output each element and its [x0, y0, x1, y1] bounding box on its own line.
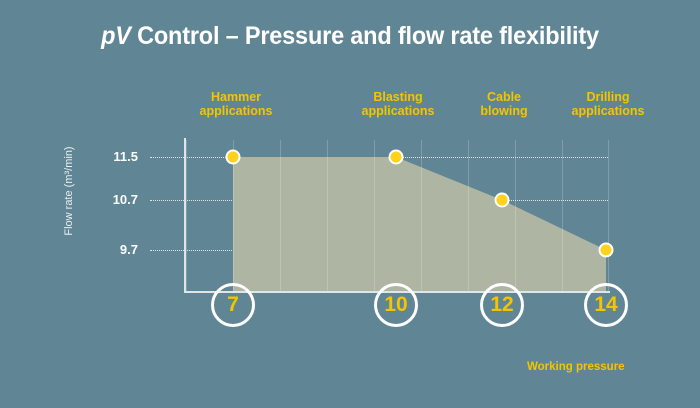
- x-axis-bubble-12[interactable]: 12: [480, 283, 524, 327]
- x-axis-bubble-10[interactable]: 10: [374, 283, 418, 327]
- page-title: pV Control – Pressure and flow rate flex…: [21, 22, 679, 51]
- category-label-drilling: Drilling applications: [538, 90, 678, 118]
- category-label-hammer-line2: applications: [166, 104, 306, 118]
- y-tick-label-11-5: 11.5: [78, 149, 138, 164]
- x-axis-bubble-14[interactable]: 14: [584, 283, 628, 327]
- x-axis-bubble-7[interactable]: 7: [211, 283, 255, 327]
- data-point-marker[interactable]: [599, 243, 614, 258]
- y-tick-label-10-7: 10.7: [78, 192, 138, 207]
- data-point-marker[interactable]: [389, 150, 404, 165]
- gridline-vertical: [374, 140, 375, 291]
- category-label-hammer: Hammer applications: [166, 90, 306, 118]
- category-label-drilling-line1: Drilling: [538, 90, 678, 104]
- infographic-chart: pV Control – Pressure and flow rate flex…: [0, 0, 700, 408]
- title-rest: Control – Pressure and flow rate flexibi…: [131, 22, 599, 50]
- gridline-vertical: [562, 140, 563, 291]
- category-label-drilling-line2: applications: [538, 104, 678, 118]
- gridline-vertical: [608, 140, 609, 291]
- category-label-hammer-line1: Hammer: [166, 90, 306, 104]
- data-point-marker[interactable]: [226, 150, 241, 165]
- y-tick-label-9-7: 9.7: [78, 242, 138, 257]
- gridline-vertical: [327, 140, 328, 291]
- y-axis-line: [184, 138, 186, 293]
- data-point-marker[interactable]: [495, 193, 510, 208]
- x-axis-title: Working pressure: [527, 361, 625, 373]
- gridline-vertical: [421, 140, 422, 291]
- gridline-vertical: [186, 140, 187, 291]
- gridline-vertical: [468, 140, 469, 291]
- gridline-vertical: [280, 140, 281, 291]
- gridline-vertical: [515, 140, 516, 291]
- title-emphasis: pV: [101, 22, 131, 50]
- y-axis-title: Flow rate (m³/min): [63, 121, 75, 261]
